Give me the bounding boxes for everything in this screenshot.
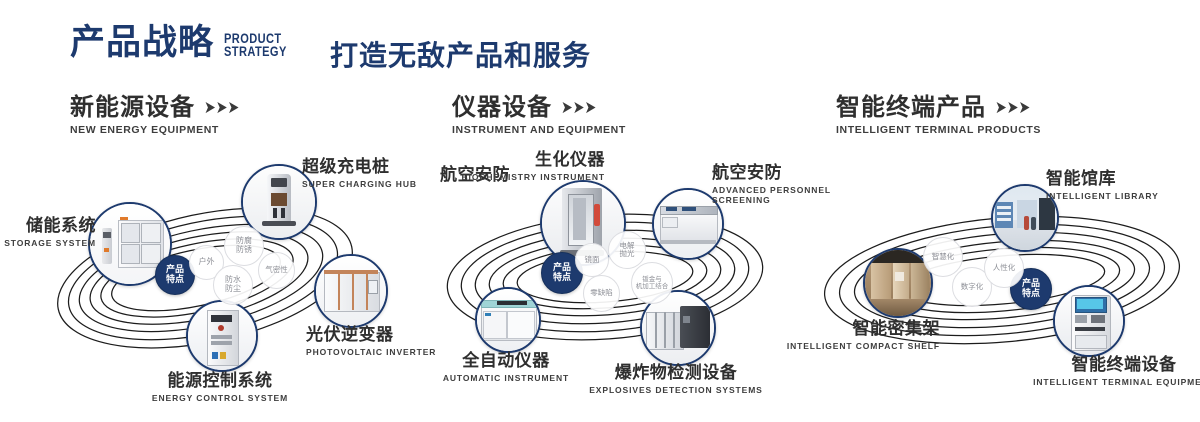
section-heading-intelligent-terminal: 智能终端产品 ➤➤➤ INTELLIGENT TERMINAL PRODUCTS	[836, 95, 1041, 136]
page-title-english-line2: STRATEGY	[224, 46, 287, 59]
label-intelligent-compact-shelf: 智能密集架 INTELLIGENT COMPACT SHELF	[750, 320, 940, 351]
feature-bubble-text: 户外	[199, 258, 215, 267]
section-title-en: INSTRUMENT AND EQUIPMENT	[452, 124, 626, 136]
core-bubble-line2: 特点	[553, 273, 571, 283]
feature-bubble-waterproof: 防水 防尘	[213, 265, 253, 305]
core-bubble-line2: 特点	[166, 275, 184, 285]
feature-bubble-line2: 抛光	[620, 250, 635, 258]
label-en: EXPLOSIVES DETECTION SYSTEMS	[563, 385, 789, 396]
poster-header: 产品战略 PRODUCT STRATEGY	[70, 26, 301, 61]
feature-bubble-line2: 机加工结合	[636, 283, 669, 290]
label-energy-control-system: 能源控制系统 ENERGY CONTROL SYSTEM	[95, 372, 345, 403]
cluster-new-energy: 储能系统 ENERGY STORAGE SYSTEM 超级充电桩 SUPER C…	[0, 150, 420, 400]
node-intelligent-terminal-equipment[interactable]	[1053, 285, 1125, 357]
label-en: INTELLIGENT TERMINAL EQUIPMENT	[1004, 377, 1200, 388]
core-bubble-line1: 产品	[1022, 279, 1040, 289]
node-automatic-instrument[interactable]	[475, 287, 541, 353]
feature-bubble-text: 零缺陷	[590, 289, 613, 297]
feature-bubble-text: 气密性	[265, 266, 288, 274]
node-photovoltaic-inverter[interactable]	[314, 254, 388, 328]
feature-bubble-text: 数字化	[961, 283, 984, 291]
chevron-right-icon: ➤➤➤	[995, 99, 1029, 116]
feature-bubble-line2: 防尘	[225, 285, 241, 294]
page-title-english: PRODUCT STRATEGY	[224, 33, 287, 59]
label-cn: 能源控制系统	[95, 372, 345, 391]
feature-bubble-humanized: 人性化	[984, 248, 1024, 288]
feature-bubble-anti-corrosion: 防腐 防锈	[224, 226, 264, 266]
feature-bubble-airtightness: 气密性	[258, 252, 295, 289]
label-en: ENERGY STORAGE SYSTEM	[0, 238, 96, 249]
feature-bubble-electrolytic-polishing: 电解 抛光	[608, 231, 646, 269]
feature-bubble-text: 智慧化	[932, 253, 955, 261]
section-heading-instrument: 仪器设备 ➤➤➤ INSTRUMENT AND EQUIPMENT	[452, 95, 626, 136]
section-title-en: NEW ENERGY EQUIPMENT	[70, 124, 238, 136]
feature-bubble-text: 镜面	[585, 256, 600, 264]
cluster-instrument: 航空安防 生化仪器 BIOCHEMISTRY INSTRUMENT 航空安防 A…	[400, 150, 820, 400]
chevron-right-icon: ➤➤➤	[561, 99, 595, 116]
feature-bubble-intelligent: 智慧化	[923, 237, 963, 277]
section-title-cn: 智能终端产品	[836, 95, 986, 120]
core-bubble-line1: 产品	[166, 265, 184, 275]
page-title: 产品战略	[70, 26, 214, 61]
label-explosives-detection: 爆炸物检测设备 EXPLOSIVES DETECTION SYSTEMS	[563, 364, 789, 395]
section-heading-new-energy: 新能源设备 ➤➤➤ NEW ENERGY EQUIPMENT	[70, 95, 238, 136]
page-subtitle: 打造无敌产品和服务	[330, 34, 591, 74]
label-en: INTELLIGENT COMPACT SHELF	[750, 341, 940, 352]
label-en: BIOCHEMISTRY INSTRUMENT	[440, 172, 605, 183]
cluster-intelligent-terminal: 智能馆库 INTELLIGENT LIBRARY 智能密集架 INTELLIGE…	[810, 150, 1200, 400]
label-intelligent-terminal-equipment: 智能终端设备 INTELLIGENT TERMINAL EQUIPMENT	[1004, 356, 1200, 387]
feature-bubble-text: 人性化	[993, 264, 1016, 272]
label-en: INTELLIGENT LIBRARY	[1046, 191, 1200, 202]
core-bubble-line2: 特点	[1022, 289, 1040, 299]
feature-bubble-sheetmetal-machining: 钣金与 机加工结合	[631, 262, 673, 304]
label-intelligent-library: 智能馆库 INTELLIGENT LIBRARY	[1046, 170, 1200, 201]
feature-bubble-mirror-finish: 镜面	[575, 243, 609, 277]
section-title-cn: 新能源设备	[70, 95, 195, 120]
section-title-cn: 仪器设备	[452, 95, 552, 120]
core-bubble-line1: 产品	[553, 263, 571, 273]
label-biochemistry-instrument: 生化仪器 BIOCHEMISTRY INSTRUMENT	[440, 151, 605, 182]
label-cn: 智能馆库	[1046, 170, 1200, 189]
label-cn: 储能系统	[0, 217, 96, 236]
label-energy-storage-system: 储能系统 ENERGY STORAGE SYSTEM	[0, 217, 96, 248]
section-title-en: INTELLIGENT TERMINAL PRODUCTS	[836, 124, 1041, 136]
chevron-right-icon: ➤➤➤	[204, 99, 238, 116]
label-en: ENERGY CONTROL SYSTEM	[95, 393, 345, 404]
label-cn: 爆炸物检测设备	[563, 364, 789, 383]
feature-bubble-line2: 防锈	[236, 246, 252, 255]
label-cn: 智能终端设备	[1004, 356, 1200, 375]
poster-canvas: 产品战略 PRODUCT STRATEGY 打造无敌产品和服务 新能源设备 ➤➤…	[0, 0, 1200, 422]
label-cn: 生化仪器	[440, 151, 605, 170]
label-cn: 智能密集架	[750, 320, 940, 339]
feature-bubble-zero-defect: 零缺陷	[583, 275, 620, 312]
node-energy-control-system[interactable]	[186, 300, 258, 372]
